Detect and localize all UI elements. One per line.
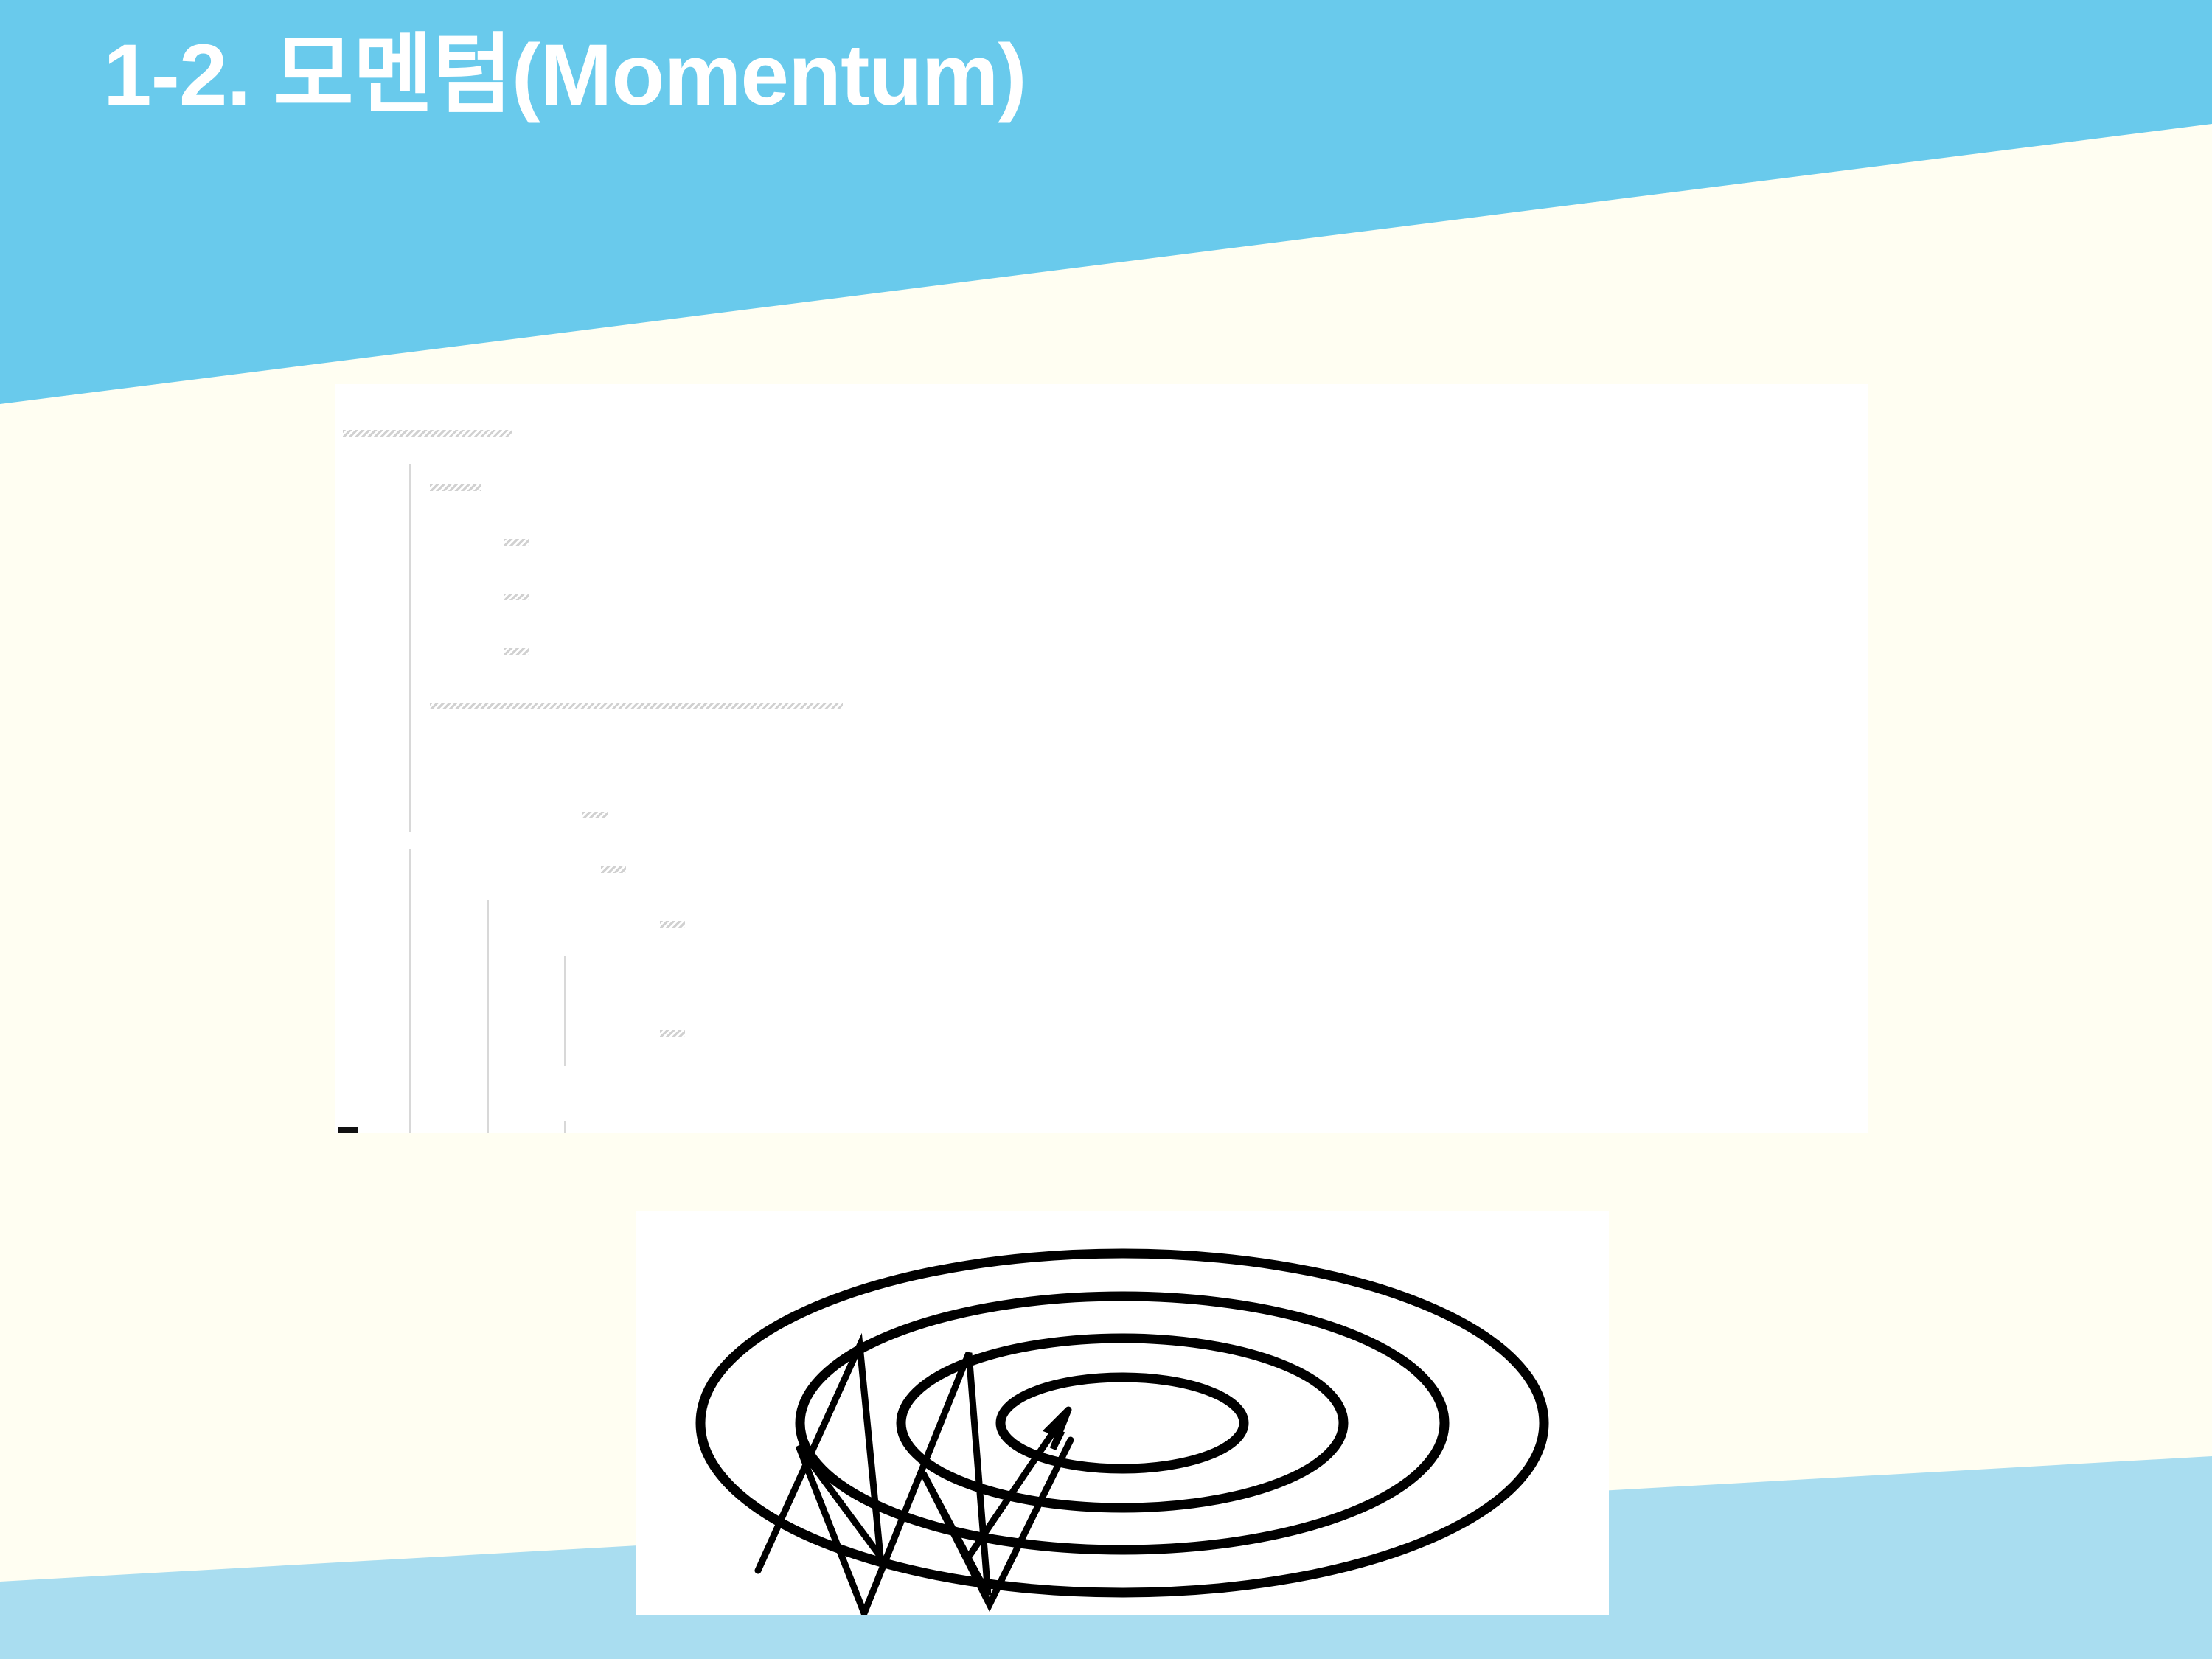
code-screenshot-panel: class Momentum: def __init__(self, lr=0.… — [335, 384, 1868, 1133]
spellcheck-squiggle — [504, 539, 529, 546]
indent-guide-2 — [409, 849, 411, 1133]
indent-guide-1 — [409, 464, 411, 832]
spellcheck-squiggle — [504, 594, 529, 600]
contour-svg — [636, 1211, 1609, 1615]
page-title: 1-2. 모멘텀(Momentum) — [103, 28, 1026, 124]
spellcheck-squiggle — [582, 812, 608, 818]
indent-guide-4 — [564, 956, 566, 1066]
clipped-text-artifact — [338, 1127, 358, 1133]
code-block: class Momentum: def __init__(self, lr=0.… — [335, 384, 1868, 1133]
momentum-contour-figure — [636, 1211, 1609, 1615]
indent-guide-3 — [487, 900, 489, 1133]
spellcheck-squiggle — [343, 430, 512, 437]
arrow-head — [1048, 1410, 1068, 1449]
spellcheck-squiggle — [430, 484, 481, 491]
slide-canvas: 1-2. 모멘텀(Momentum) class Momentum: def _… — [0, 0, 2212, 1659]
indent-guide-5 — [564, 1121, 566, 1133]
spellcheck-squiggle — [660, 1030, 685, 1037]
spellcheck-squiggle — [430, 703, 843, 709]
spellcheck-squiggle — [504, 648, 529, 655]
spellcheck-squiggle — [660, 921, 685, 928]
spellcheck-squiggle — [601, 866, 626, 873]
